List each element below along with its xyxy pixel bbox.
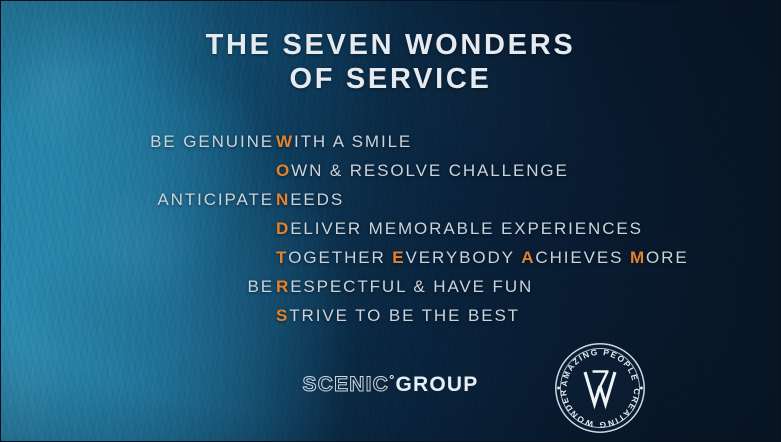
wonder-highlight-4-t: T: [276, 248, 288, 267]
badge-dot-left: [557, 387, 560, 390]
logo-scenic-text: SCENIC: [303, 373, 390, 396]
list-item: TOGETHER EVERYBODY ACHIEVES MORE: [1, 248, 780, 277]
wonder-prefix-0: BE GENUINE: [150, 132, 274, 152]
list-item: DELIVER MEMORABLE EXPERIENCES: [1, 219, 780, 248]
wonder-highlight-4-m: M: [630, 248, 646, 267]
scenic-group-logo: SCENIC°GROUP: [1, 367, 780, 398]
list-item: OWN & RESOLVE CHALLENGE: [1, 161, 780, 190]
wonders-list: BE GENUINE WITH A SMILE OWN & RESOLVE CH…: [1, 132, 780, 335]
wonder-highlight-6: S: [276, 306, 289, 325]
wonder-body-6: STRIVE TO BE THE BEST: [276, 306, 520, 326]
wonder-text-4-b: VERYBODY: [406, 248, 522, 267]
wonder-text-4-c: CHIEVES: [535, 248, 630, 267]
amazing-people-badge: AMAZING PEOPLE CREATING WONDER: [552, 340, 648, 436]
seven-wonders-slide: THE SEVEN WONDERS OF SERVICE BE GENUINE …: [0, 0, 781, 442]
title-line-1: THE SEVEN WONDERS: [1, 28, 780, 62]
wonder-suffix-6: TRIVE TO BE THE BEST: [289, 306, 520, 325]
wonder-suffix-3: ELIVER MEMORABLE EXPERIENCES: [290, 219, 643, 238]
wonder-highlight-4-a: A: [521, 248, 535, 267]
wonder-prefix-2: ANTICIPATE: [157, 190, 274, 210]
wonder-suffix-1: WN & RESOLVE CHALLENGE: [291, 161, 569, 180]
wonder-body-4: TOGETHER EVERYBODY ACHIEVES MORE: [276, 248, 689, 268]
list-item: ANTICIPATE NEEDS: [1, 190, 780, 219]
wonder-suffix-0: ITH A SMILE: [294, 132, 412, 151]
wonder-body-5: RESPECTFUL & HAVE FUN: [276, 277, 533, 297]
list-item: BE GENUINE WITH A SMILE: [1, 132, 780, 161]
wonder-highlight-3: D: [276, 219, 290, 238]
wonder-body-3: DELIVER MEMORABLE EXPERIENCES: [276, 219, 643, 239]
page-title: THE SEVEN WONDERS OF SERVICE: [1, 28, 780, 96]
wonder-highlight-1: O: [276, 161, 291, 180]
list-item: STRIVE TO BE THE BEST: [1, 306, 780, 335]
wonder-body-1: OWN & RESOLVE CHALLENGE: [276, 161, 569, 181]
wonder-body-2: NEEDS: [276, 190, 344, 210]
wonder-suffix-2: EEDS: [290, 190, 344, 209]
list-item: BE RESPECTFUL & HAVE FUN: [1, 277, 780, 306]
wonder-highlight-5: R: [276, 277, 290, 296]
wonder-text-4-a: OGETHER: [288, 248, 392, 267]
wonder-body-0: WITH A SMILE: [276, 132, 412, 152]
wonder-highlight-0: W: [276, 132, 294, 151]
wonder-prefix-5: BE: [248, 277, 274, 297]
wonder-text-4-d: ORE: [646, 248, 689, 267]
wonder-suffix-5: ESPECTFUL & HAVE FUN: [290, 277, 533, 296]
logo-group-text: GROUP: [395, 373, 478, 396]
slide-content: THE SEVEN WONDERS OF SERVICE BE GENUINE …: [1, 1, 780, 441]
badge-dot-right: [640, 387, 643, 390]
wonder-highlight-2: N: [276, 190, 290, 209]
wonder-highlight-4-e: E: [392, 248, 405, 267]
title-line-2: OF SERVICE: [1, 62, 780, 96]
